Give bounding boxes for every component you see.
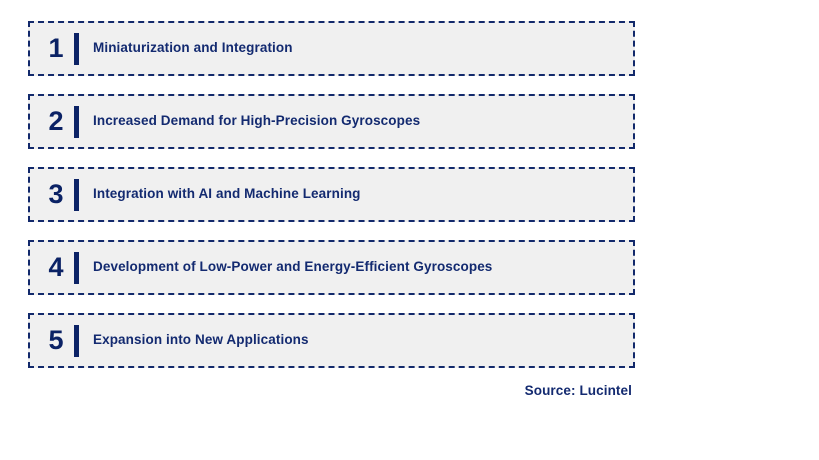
list-item[interactable]: 5 Expansion into New Applications	[28, 313, 635, 368]
list-item-label: Expansion into New Applications	[93, 332, 309, 348]
list-item[interactable]: 3 Integration with AI and Machine Learni…	[28, 167, 635, 222]
list-item-label: Miniaturization and Integration	[93, 40, 293, 56]
vertical-bar-icon	[74, 252, 79, 284]
list-item-label: Development of Low-Power and Energy-Effi…	[93, 259, 492, 275]
list-item[interactable]: 1 Miniaturization and Integration	[28, 21, 635, 76]
list-item-label: Integration with AI and Machine Learning	[93, 186, 361, 202]
list-item[interactable]: 2 Increased Demand for High-Precision Gy…	[28, 94, 635, 149]
list-item-number: 3	[30, 181, 74, 208]
list-item-number: 5	[30, 327, 74, 354]
source-attribution: Source: Lucintel	[28, 383, 635, 398]
vertical-bar-icon	[74, 106, 79, 138]
list-item[interactable]: 4 Development of Low-Power and Energy-Ef…	[28, 240, 635, 295]
vertical-bar-icon	[74, 179, 79, 211]
list-item-number: 4	[30, 254, 74, 281]
vertical-bar-icon	[74, 33, 79, 65]
list-item-number: 2	[30, 108, 74, 135]
list-item-label: Increased Demand for High-Precision Gyro…	[93, 113, 420, 129]
vertical-bar-icon	[74, 325, 79, 357]
list-item-number: 1	[30, 35, 74, 62]
emerging-trends-list: 1 Miniaturization and Integration 2 Incr…	[28, 21, 635, 386]
